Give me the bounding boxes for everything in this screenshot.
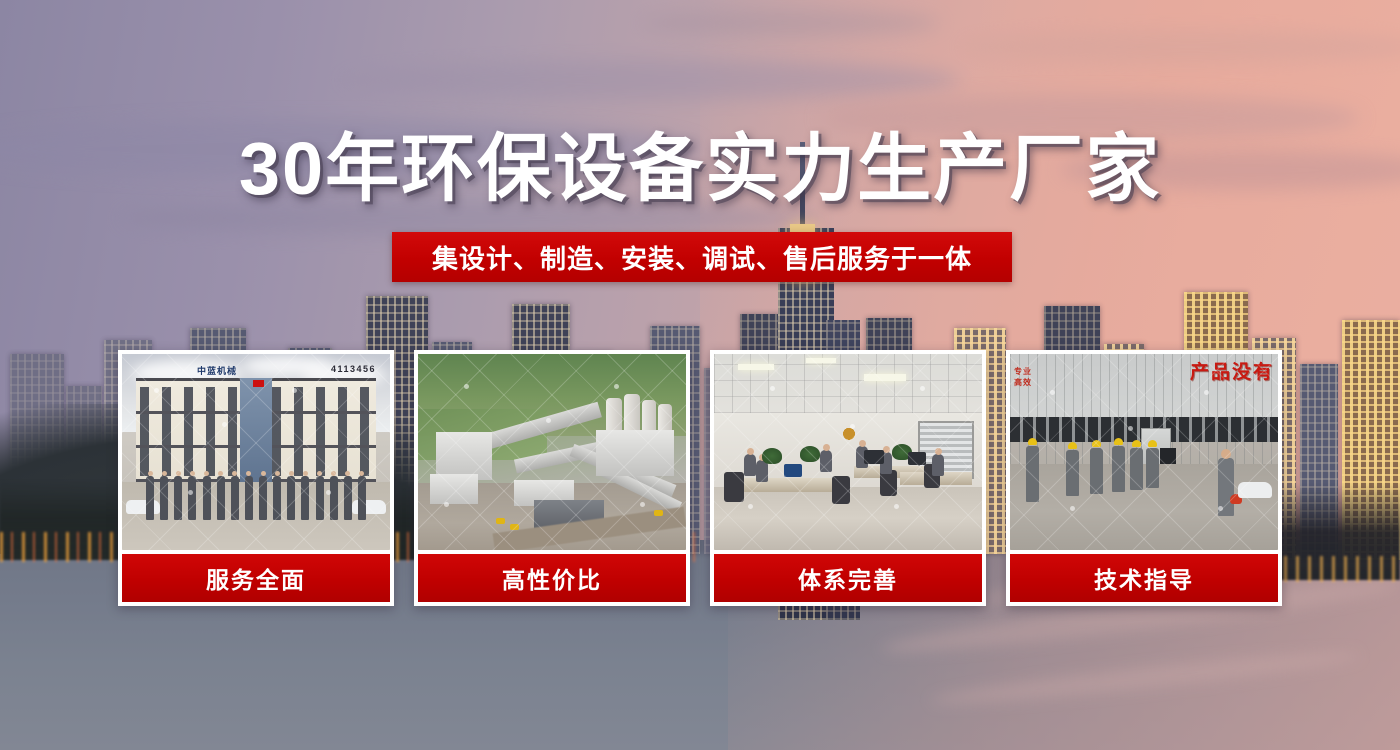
card-photo-worker-training: 产品没有 专业 高效 xyxy=(1010,354,1278,550)
factory-wall-slogan: 专业 高效 xyxy=(1014,366,1032,388)
feature-card-service[interactable]: 中蓝机械 4113456 xyxy=(118,350,394,606)
feature-card-value[interactable]: 高性价比 xyxy=(414,350,690,606)
card-label-text: 体系完善 xyxy=(798,561,898,595)
building-sign-text: 中蓝机械 xyxy=(197,364,237,377)
card-label-service: 服务全面 xyxy=(122,554,390,602)
page-title: 30年环保设备实力生产厂家 xyxy=(0,132,1400,206)
building-phone-text: 4113456 xyxy=(331,364,376,374)
subtitle-text: 集设计、制造、安装、调试、售后服务于一体 xyxy=(432,239,972,276)
subtitle-banner: 集设计、制造、安装、调试、售后服务于一体 xyxy=(392,232,1012,282)
card-label-text: 高性价比 xyxy=(502,561,602,595)
card-label-text: 服务全面 xyxy=(206,561,306,595)
factory-wall-red-text: 产品没有 xyxy=(1190,357,1274,384)
feature-card-row: 中蓝机械 4113456 xyxy=(118,350,1282,606)
feature-card-training[interactable]: 产品没有 专业 高效 xyxy=(1006,350,1282,606)
promo-banner: 30年环保设备实力生产厂家 集设计、制造、安装、调试、售后服务于一体 xyxy=(0,0,1400,750)
card-label-value: 高性价比 xyxy=(418,554,686,602)
card-photo-office-interior xyxy=(714,354,982,550)
card-label-system: 体系完善 xyxy=(714,554,982,602)
card-photo-industrial-plant xyxy=(418,354,686,550)
card-label-text: 技术指导 xyxy=(1094,561,1194,595)
card-photo-company-building: 中蓝机械 4113456 xyxy=(122,354,390,550)
card-label-training: 技术指导 xyxy=(1010,554,1278,602)
feature-card-system[interactable]: 体系完善 xyxy=(710,350,986,606)
